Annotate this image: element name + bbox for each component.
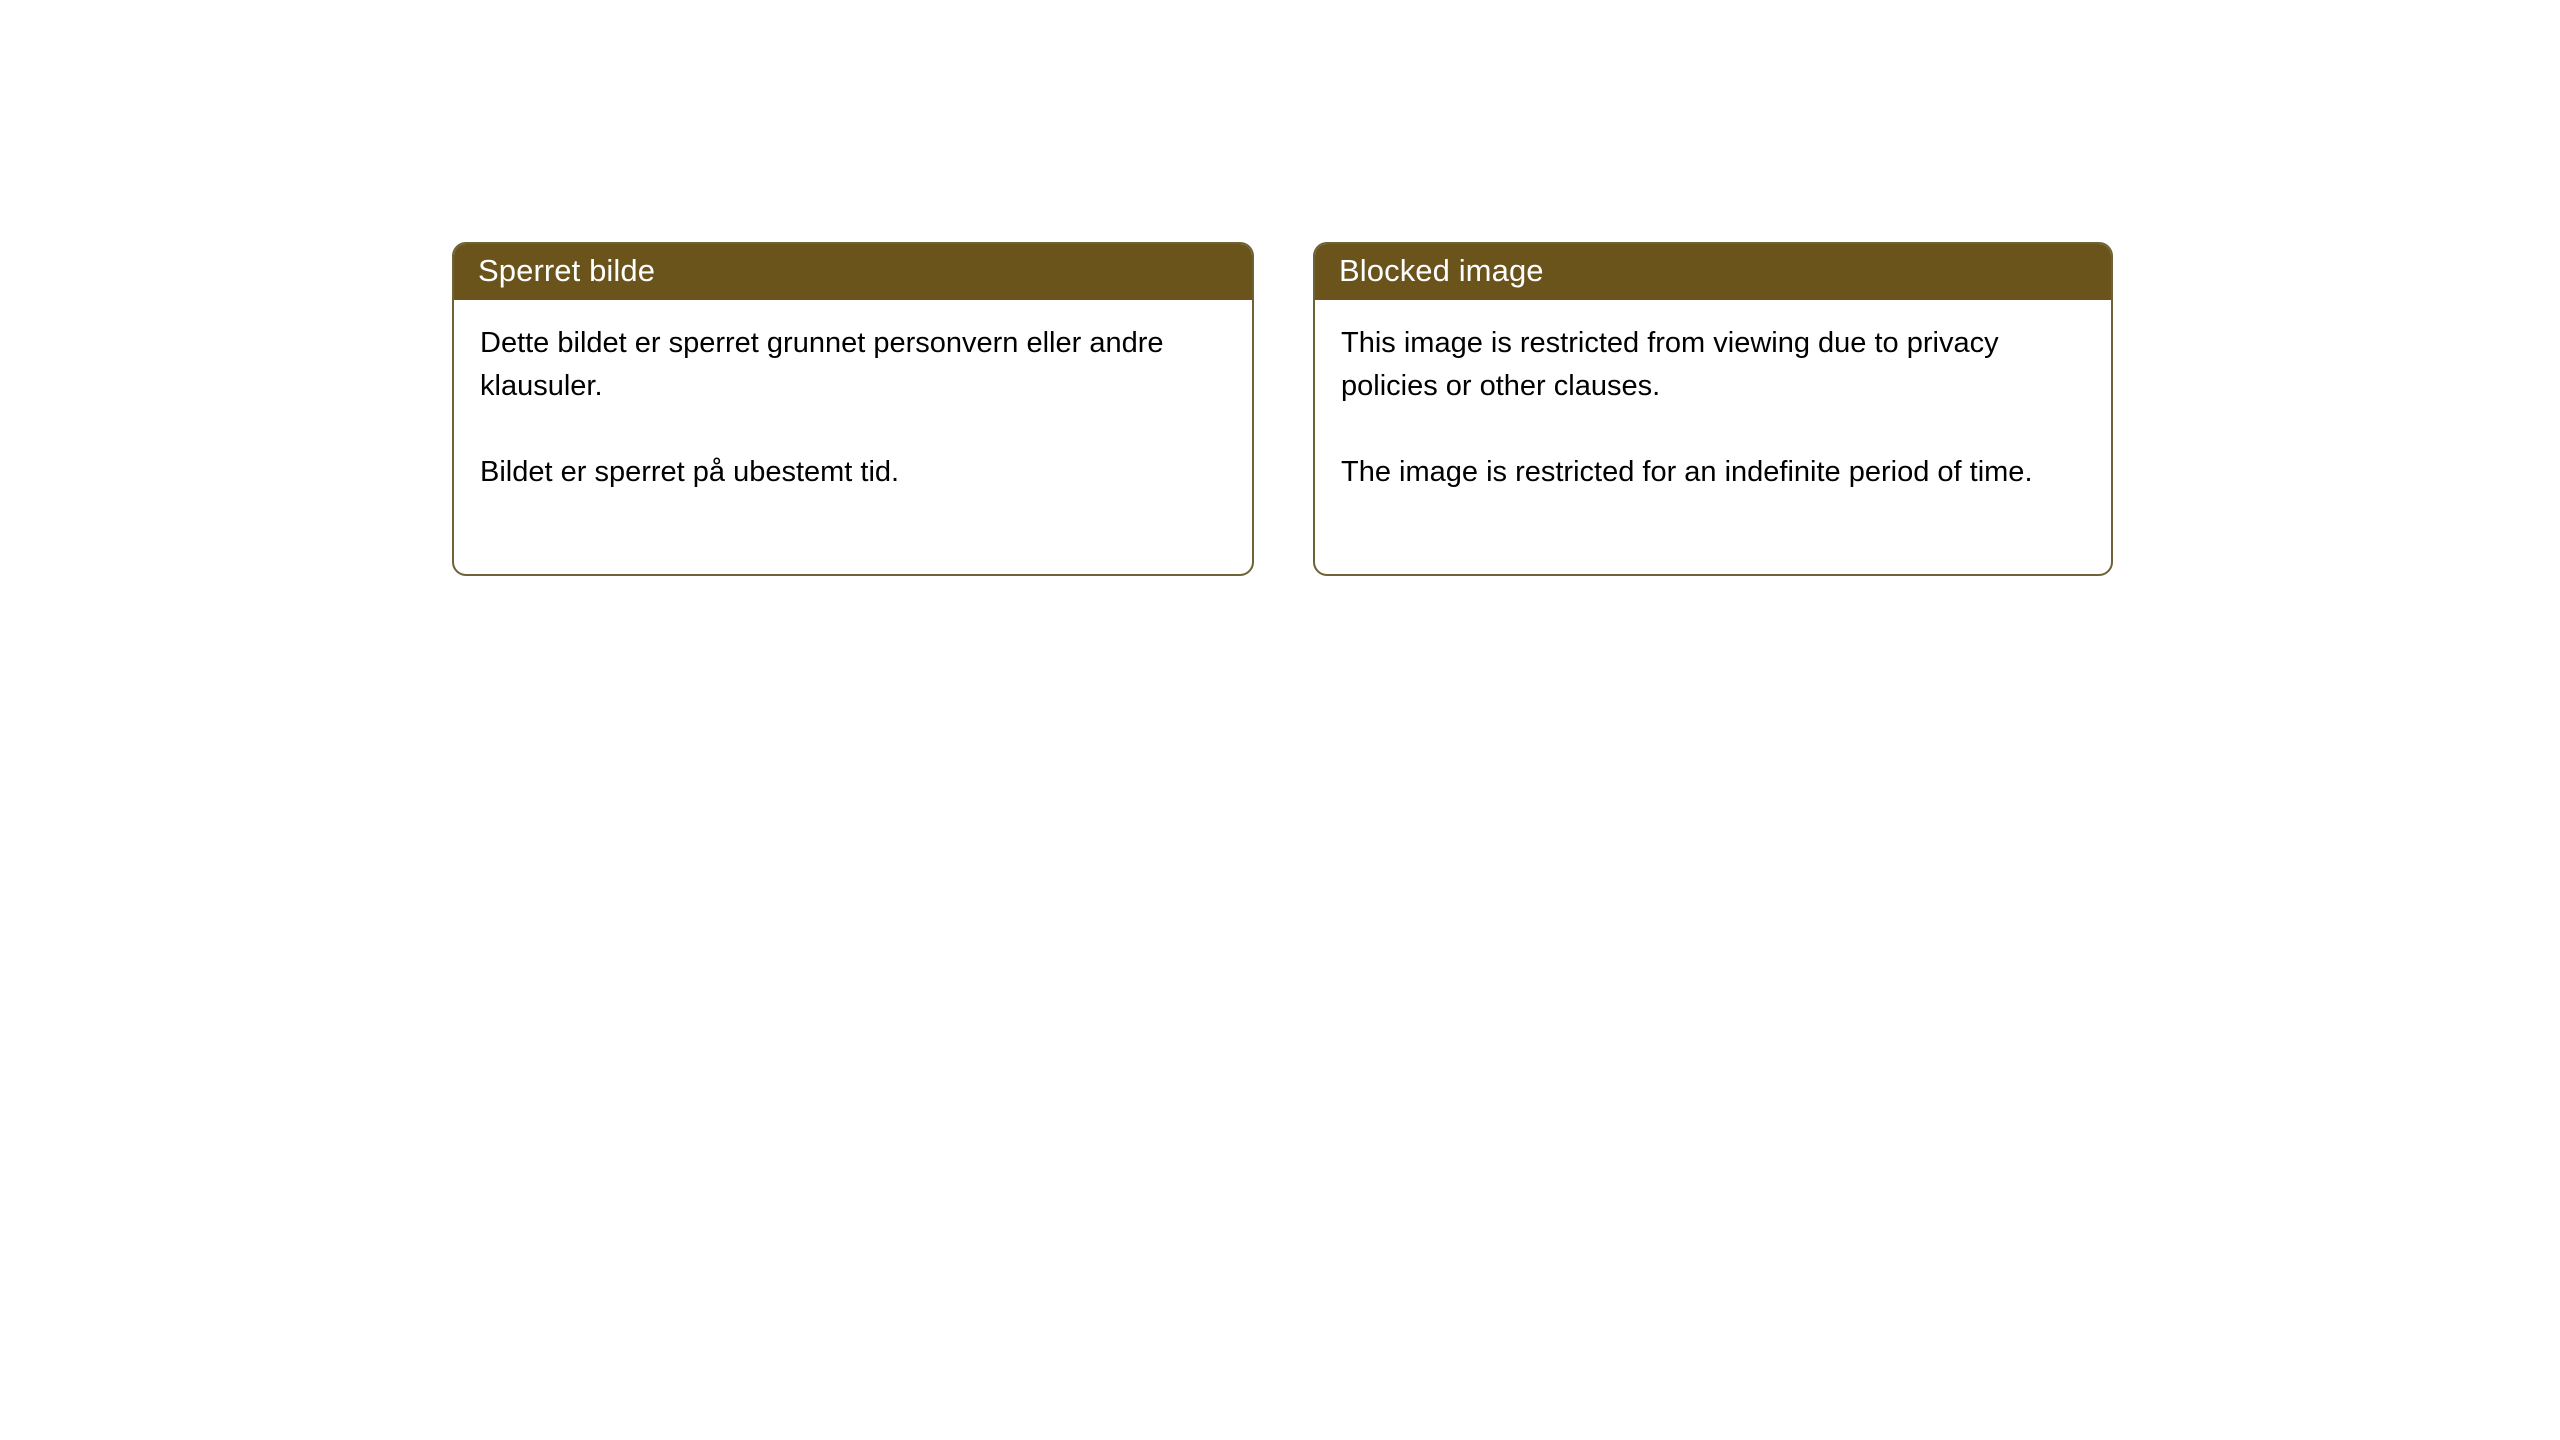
notice-card-title-no: Sperret bilde: [478, 255, 655, 286]
notice-card-paragraph-en-1: This image is restricted from viewing du…: [1341, 322, 2071, 408]
notice-card-header-no: Sperret bilde: [453, 243, 1253, 300]
notice-card-body-no: Dette bildet er sperret grunnet personve…: [454, 300, 1252, 494]
notice-card-paragraph-en-2: The image is restricted for an indefinit…: [1341, 451, 2071, 494]
blocked-image-notice-card-en: Blocked image This image is restricted f…: [1313, 242, 2113, 576]
blocked-image-notice-card-no: Sperret bilde Dette bildet er sperret gr…: [452, 242, 1254, 576]
notice-card-header-en: Blocked image: [1314, 243, 2112, 300]
notice-card-body-en: This image is restricted from viewing du…: [1315, 300, 2111, 494]
notice-card-paragraph-no-1: Dette bildet er sperret grunnet personve…: [480, 322, 1210, 408]
notice-card-title-en: Blocked image: [1339, 255, 1544, 286]
notice-card-paragraph-no-2: Bildet er sperret på ubestemt tid.: [480, 451, 1210, 494]
page-canvas: Sperret bilde Dette bildet er sperret gr…: [0, 0, 2560, 1440]
